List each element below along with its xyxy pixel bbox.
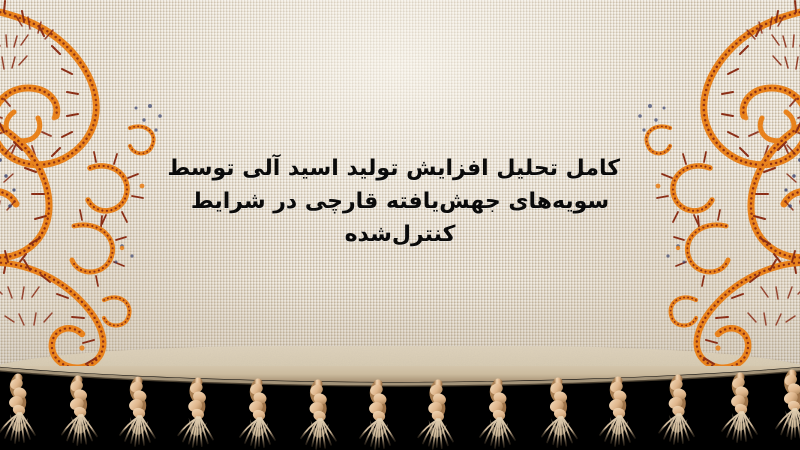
tassel-fringe bbox=[0, 366, 800, 450]
slide-canvas: کامل تحلیل افزایش تولید اسید آلی توسط سو… bbox=[0, 0, 800, 450]
slide-title: کامل تحلیل افزایش تولید اسید آلی توسط سو… bbox=[0, 152, 800, 251]
title-line-2: سویه‌های جهش‌یافته قارچی در شرایط bbox=[180, 185, 620, 218]
title-line-1: کامل تحلیل افزایش تولید اسید آلی توسط bbox=[180, 152, 620, 185]
title-line-3: کنترل‌شده bbox=[180, 218, 620, 251]
